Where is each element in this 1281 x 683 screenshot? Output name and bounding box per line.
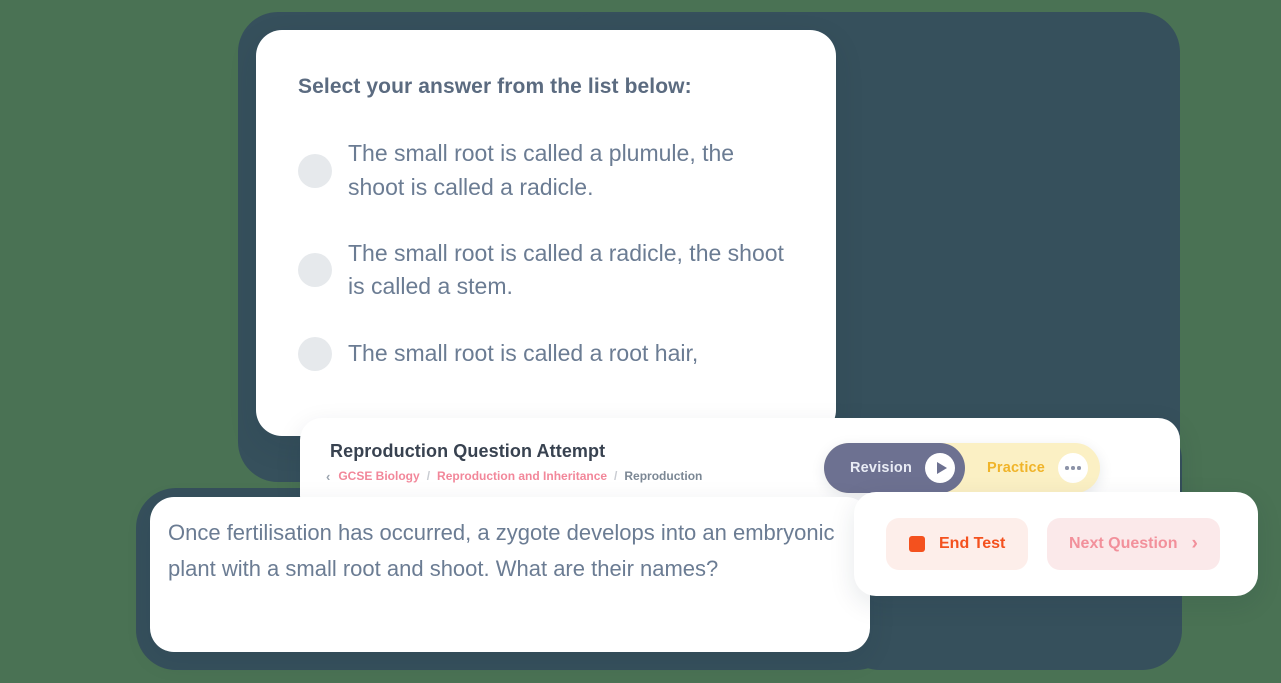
answers-title: Select your answer from the list below:: [298, 74, 796, 99]
breadcrumb-item-current: Reproduction: [624, 469, 702, 483]
answer-option-label: The small root is called a plumule, the …: [348, 137, 796, 204]
stop-square-icon: [909, 536, 925, 552]
breadcrumb: ‹ GCSE Biology / Reproduction and Inheri…: [326, 469, 702, 483]
answer-option-3[interactable]: The small root is called a root hair,: [298, 337, 796, 371]
mode-toggle-revision[interactable]: Revision: [824, 443, 965, 493]
breadcrumb-separator: /: [427, 469, 430, 483]
play-icon[interactable]: [925, 453, 955, 483]
page-title: Reproduction Question Attempt: [330, 441, 605, 462]
answers-card: Select your answer from the list below: …: [256, 30, 836, 436]
next-question-button[interactable]: Next Question ›: [1047, 518, 1220, 570]
end-test-button[interactable]: End Test: [886, 518, 1028, 570]
answer-option-label: The small root is called a radicle, the …: [348, 237, 796, 304]
mode-toggle-practice[interactable]: Practice: [965, 443, 1100, 493]
question-text-card: Once fertilisation has occurred, a zygot…: [150, 497, 870, 652]
app-stage: Select your answer from the list below: …: [0, 0, 1281, 683]
next-question-label: Next Question: [1069, 535, 1177, 553]
actions-card: End Test Next Question ›: [854, 492, 1258, 596]
answer-option-label: The small root is called a root hair,: [348, 337, 698, 370]
radio-unselected-icon[interactable]: [298, 154, 332, 188]
answer-option-1[interactable]: The small root is called a plumule, the …: [298, 137, 796, 204]
breadcrumb-item-topic[interactable]: Reproduction and Inheritance: [437, 469, 607, 483]
end-test-label: End Test: [939, 535, 1005, 553]
breadcrumb-separator: /: [614, 469, 617, 483]
radio-unselected-icon[interactable]: [298, 253, 332, 287]
ellipsis-icon[interactable]: [1058, 453, 1088, 483]
chevron-right-icon: ›: [1191, 534, 1197, 553]
mode-toggle: Revision Practice: [824, 443, 1100, 493]
question-text: Once fertilisation has occurred, a zygot…: [168, 515, 854, 586]
answers-card-inner: Select your answer from the list below: …: [256, 30, 836, 371]
mode-toggle-practice-label: Practice: [987, 460, 1045, 476]
mode-toggle-revision-label: Revision: [850, 460, 912, 476]
answer-option-2[interactable]: The small root is called a radicle, the …: [298, 237, 796, 304]
breadcrumb-item-subject[interactable]: GCSE Biology: [338, 469, 419, 483]
chevron-left-icon[interactable]: ‹: [326, 470, 330, 483]
radio-unselected-icon[interactable]: [298, 337, 332, 371]
